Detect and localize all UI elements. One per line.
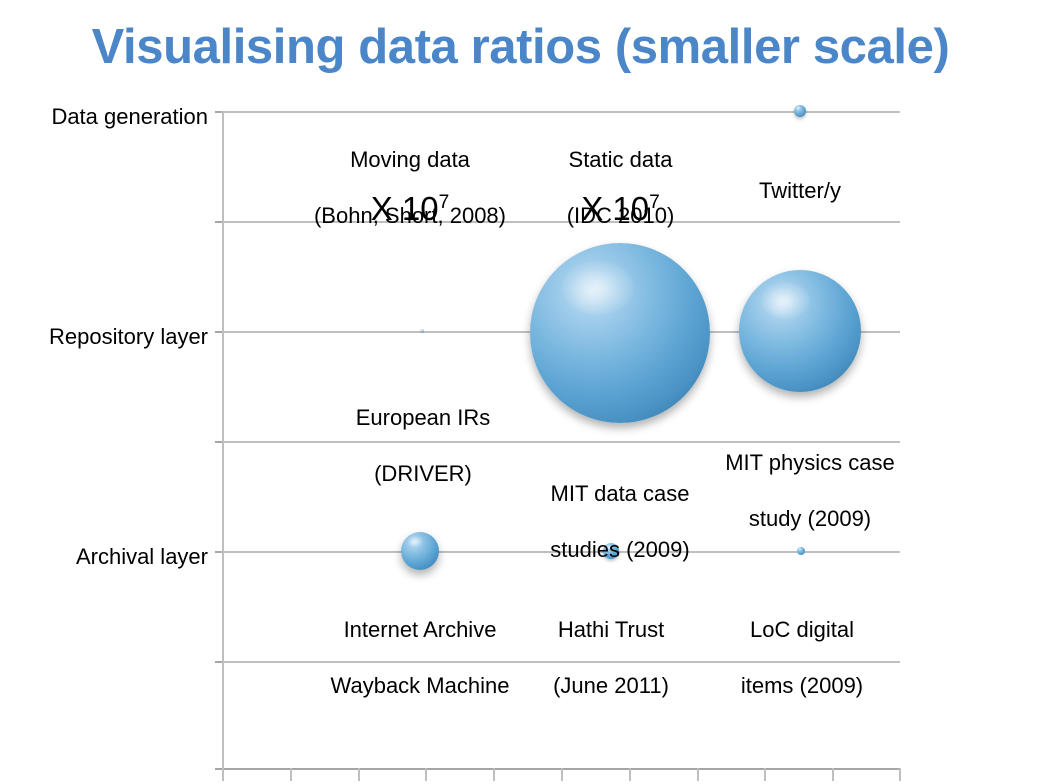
point-label-loc-digital-items: LoC digital items (2009) <box>712 588 892 729</box>
annotation-static-data-line1: Static data <box>513 146 728 174</box>
point-label-internet-archive-line2: Wayback Machine <box>305 672 535 700</box>
y-axis-label-archival-layer: Archival layer <box>0 544 208 569</box>
x-tick-11 <box>899 768 901 781</box>
x-tick-9 <box>764 768 766 781</box>
y-tick-6 <box>215 661 222 663</box>
annotation-static-data-multiplier: X 107 <box>513 192 728 225</box>
multiplier-exponent-static: 7 <box>649 192 660 213</box>
bubble-twitter[interactable] <box>794 105 806 117</box>
x-tick-1 <box>222 768 224 781</box>
point-label-european-irs-line2: (DRIVER) <box>303 460 543 488</box>
y-tick-3 <box>215 331 222 333</box>
x-tick-4 <box>425 768 427 781</box>
point-label-hathi-trust-line2: (June 2011) <box>518 672 704 700</box>
bubble-internet-archive[interactable] <box>401 532 439 570</box>
point-label-hathi-trust: Hathi Trust (June 2011) <box>518 588 704 729</box>
point-label-twitter: Twitter/y <box>700 149 900 233</box>
y-tick-7 <box>215 768 222 770</box>
bubble-mit-physics-case-study[interactable] <box>739 270 861 392</box>
y-axis-line <box>222 111 224 768</box>
x-tick-10 <box>832 768 834 781</box>
y-tick-1 <box>215 111 222 113</box>
x-tick-5 <box>493 768 495 781</box>
page-title: Visualising data ratios (smaller scale) <box>0 22 1041 73</box>
x-tick-3 <box>358 768 360 781</box>
multiplier-exponent-moving: 7 <box>439 192 450 213</box>
bubble-mit-data-case-studies[interactable] <box>530 243 710 423</box>
annotation-static-data: Static data (IDC 2010) <box>513 118 728 259</box>
x-tick-7 <box>629 768 631 781</box>
point-label-mit-physics-line2: study (2009) <box>695 505 925 533</box>
point-label-internet-archive: Internet Archive Wayback Machine <box>305 588 535 729</box>
y-tick-4 <box>215 441 222 443</box>
annotation-moving-data-line1: Moving data <box>280 146 540 174</box>
annotation-moving-data: Moving data (Bohn, Short, 2008) <box>280 118 540 259</box>
y-tick-5 <box>215 551 222 553</box>
bubble-european-irs[interactable] <box>420 329 424 333</box>
point-label-loc-line1: LoC digital <box>712 616 892 644</box>
x-tick-6 <box>561 768 563 781</box>
y-axis-label-data-generation: Data generation <box>0 104 208 129</box>
multiplier-base-static: X 10 <box>581 190 649 227</box>
point-label-loc-line2: items (2009) <box>712 672 892 700</box>
y-axis-label-repository-layer: Repository layer <box>0 324 208 349</box>
y-tick-2 <box>215 221 222 223</box>
point-label-hathi-trust-line1: Hathi Trust <box>518 616 704 644</box>
point-label-european-irs-line1: European IRs <box>303 404 543 432</box>
x-tick-8 <box>697 768 699 781</box>
point-label-mit-physics-case-study: MIT physics case study (2009) <box>695 421 925 562</box>
annotation-moving-data-multiplier: X 107 <box>280 192 540 225</box>
multiplier-base-moving: X 10 <box>371 190 439 227</box>
point-label-internet-archive-line1: Internet Archive <box>305 616 535 644</box>
point-label-mit-physics-line1: MIT physics case <box>695 449 925 477</box>
point-label-european-irs: European IRs (DRIVER) <box>303 376 543 517</box>
x-tick-2 <box>290 768 292 781</box>
point-label-twitter-line1: Twitter/y <box>700 177 900 205</box>
slide: Visualising data ratios (smaller scale) … <box>0 0 1041 784</box>
